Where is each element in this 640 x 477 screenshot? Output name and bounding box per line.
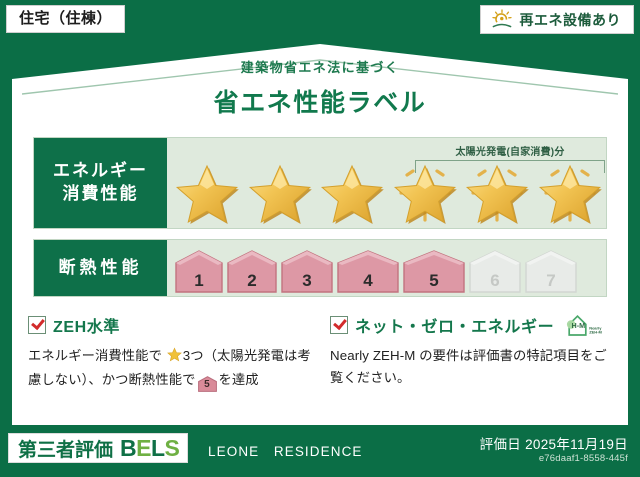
renewable-energy-badge: 再エネ設備あり — [480, 5, 635, 34]
star-rating-item — [389, 160, 462, 224]
solar-sun-icon — [490, 9, 514, 30]
energy-performance-row: エネルギー 消費性能 太陽光発電(自家消費)分 — [33, 137, 607, 229]
title-main: 省エネ性能ラベル — [0, 83, 640, 119]
insulation-grade-value: 4 — [363, 271, 372, 291]
energy-row-label: エネルギー 消費性能 — [34, 138, 167, 228]
insulation-grade-value: 6 — [490, 271, 499, 291]
zeh-standard-column: ZEH水準 エネルギー消費性能で 3つ（太陽光発電は考慮しない）、かつ断熱性能で… — [28, 312, 312, 392]
check-icon — [330, 316, 348, 334]
insulation-grade-badge: 1 — [175, 250, 223, 293]
title-subtitle: 建築物省エネ法に基づく — [0, 57, 640, 76]
svg-text:H-M: H-M — [572, 321, 586, 330]
zeh-standard-body: エネルギー消費性能で 3つ（太陽光発電は考慮しない）、かつ断熱性能で 5 を達成 — [28, 345, 312, 392]
insulation-grade-badge: 7 — [525, 250, 577, 293]
insulation-grade-value: 3 — [302, 271, 311, 291]
building-type-chip: 住宅（住棟） — [6, 5, 125, 33]
star-rating-item — [244, 160, 317, 224]
net-zero-energy-body: Nearly ZEH-M の要件は評価書の特記項目をご覧ください。 — [330, 345, 614, 388]
star-rating-item — [316, 160, 389, 224]
label-title-block: 建築物省エネ法に基づく 省エネ性能ラベル — [0, 57, 640, 119]
evaluation-date: 評価日 2025年11月19日 — [480, 433, 628, 453]
inline-grade-badge: 5 — [198, 376, 217, 392]
star-icon — [318, 160, 386, 224]
star-rating-item — [171, 160, 244, 224]
zeh-standard-header: ZEH水準 — [28, 312, 312, 338]
insulation-grade-value: 5 — [429, 271, 438, 291]
energy-row-label-line2: 消費性能 — [63, 183, 139, 206]
energy-row-label-line1: エネルギー — [53, 160, 148, 183]
bels-letter-e: E — [136, 435, 151, 461]
net-zero-energy-column: ネット・ゼロ・エネルギー H-M Nearly ZEH-M Nearly ZEH… — [330, 312, 614, 392]
insulation-grade-group: 1234567 — [175, 250, 577, 293]
bels-jp-label: 第三者評価 — [18, 435, 113, 462]
bels-letter-s: S — [165, 435, 180, 461]
check-icon — [28, 316, 46, 334]
renewable-badge-label: 再エネ設備あり — [520, 10, 622, 30]
bels-wordmark: BELS — [120, 435, 179, 462]
insulation-grade-badge: 6 — [469, 250, 521, 293]
inline-star-icon — [167, 347, 182, 369]
energy-performance-label: 住宅（住棟） 再エネ設備あり 建築物省エネ法に基づく 省エネ性能ラベル エネルギ… — [0, 0, 640, 477]
bels-letter-b: B — [120, 435, 136, 461]
star-rating-group — [167, 160, 606, 224]
evaluation-id: e76daaf1-8558-445f — [539, 453, 628, 464]
bels-letter-l: L — [151, 435, 165, 461]
insulation-grade-value: 7 — [546, 271, 555, 291]
building-type-label: 住宅（住棟） — [19, 10, 112, 27]
zeh-body-part3: を達成 — [219, 372, 259, 387]
net-zero-energy-header: ネット・ゼロ・エネルギー H-M Nearly ZEH-M — [330, 312, 614, 338]
insulation-performance-row: 断熱性能 1234567 — [33, 239, 607, 297]
star-rating-item — [461, 160, 534, 224]
insulation-grade-value: 2 — [247, 271, 256, 291]
insulation-grade-badge: 3 — [281, 250, 333, 293]
star-icon — [246, 160, 314, 224]
bels-certification-mark: 第三者評価 BELS — [8, 433, 188, 463]
inline-grade-value: 5 — [204, 379, 210, 390]
insulation-grade-value: 1 — [194, 271, 203, 291]
zeh-m-logo: H-M Nearly ZEH-M — [566, 312, 602, 338]
star-sparkle-icon — [536, 160, 604, 224]
energy-row-body: 太陽光発電(自家消費)分 — [167, 138, 606, 228]
net-zero-energy-title: ネット・ゼロ・エネルギー — [355, 313, 554, 337]
solar-generation-caption: 太陽光発電(自家消費)分 — [405, 143, 615, 158]
star-sparkle-icon — [463, 160, 531, 224]
insulation-row-label: 断熱性能 — [34, 240, 167, 296]
zeh-body-part1: エネルギー消費性能で — [28, 348, 162, 363]
insulation-grade-badge: 2 — [227, 250, 277, 293]
project-name: LEONE RESIDENCE — [208, 440, 363, 460]
star-icon — [173, 160, 241, 224]
insulation-grade-badge: 4 — [337, 250, 399, 293]
star-rating-item — [534, 160, 607, 224]
insulation-row-body: 1234567 — [167, 240, 606, 296]
zeh-standard-title: ZEH水準 — [53, 313, 120, 337]
svg-text:ZEH-M: ZEH-M — [589, 330, 602, 335]
label-footer: 第三者評価 BELS LEONE RESIDENCE 評価日 2025年11月1… — [0, 425, 640, 477]
info-section: ZEH水準 エネルギー消費性能で 3つ（太陽光発電は考慮しない）、かつ断熱性能で… — [28, 312, 614, 392]
star-sparkle-icon — [391, 160, 459, 224]
insulation-grade-badge: 5 — [403, 250, 465, 293]
